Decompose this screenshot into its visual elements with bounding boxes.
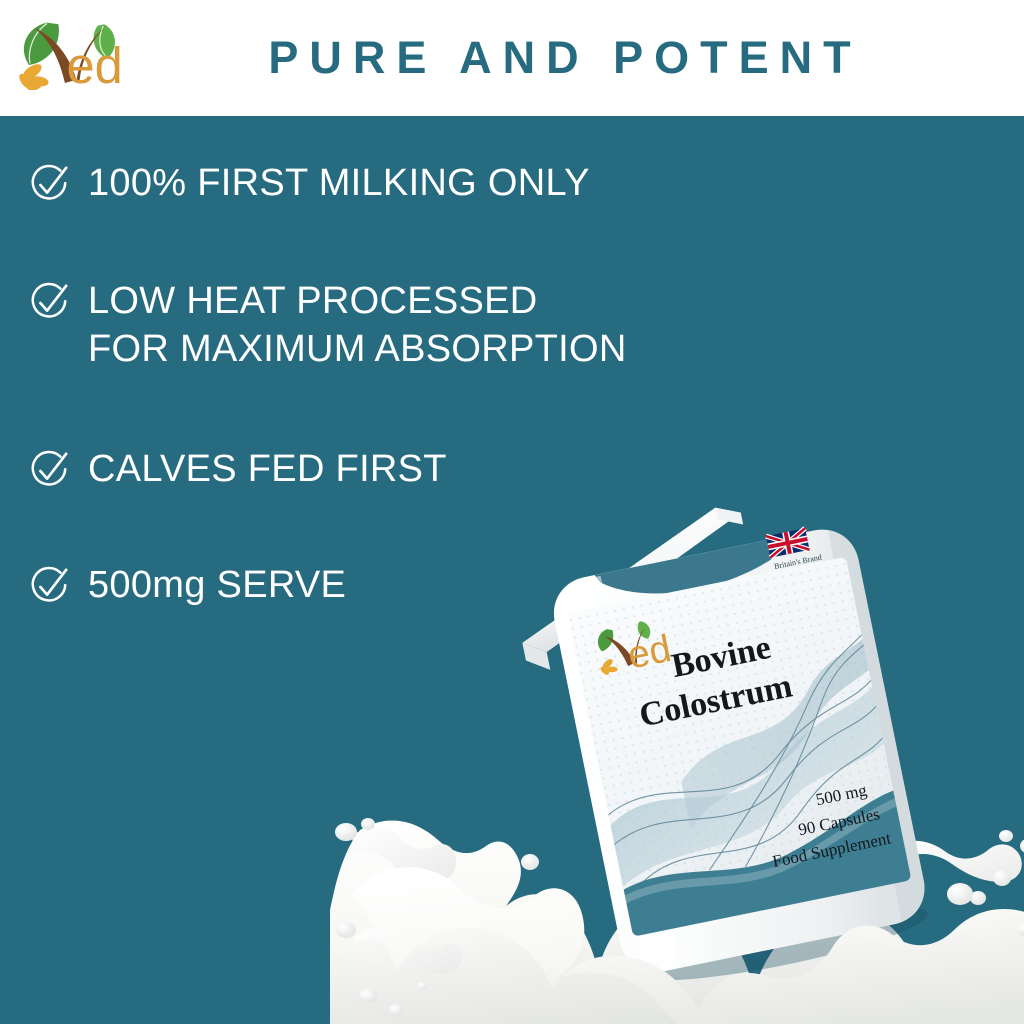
feature-item-calves-fed-first: CALVES FED FIRST [28,446,768,494]
brand-logo[interactable]: ed [16,14,122,90]
feature-list: 100% FIRST MILKING ONLY LOW HEAT PROCESS… [28,160,768,609]
feature-item-serve-size: 500mg SERVE [28,562,768,610]
milk-splash-front [340,798,1024,1024]
feature-label: 100% FIRST MILKING ONLY [88,160,590,208]
feature-label: LOW HEAT PROCESSED FOR MAXIMUM ABSORPTIO… [88,278,627,374]
feature-item-first-milking: 100% FIRST MILKING ONLY [28,160,768,208]
check-circle-icon [28,450,70,492]
logo-wordmark: ed [67,37,122,90]
check-circle-icon [28,566,70,608]
feature-label: 500mg SERVE [88,562,346,610]
flower-icon [17,61,49,90]
check-circle-icon [28,282,70,324]
promo-graphic-root: Britain's Brand [0,0,1024,1024]
check-circle-icon [28,164,70,206]
header-bar: ed PURE AND POTENT [0,0,1024,116]
svg-text:ed: ed [624,627,675,678]
feature-label: CALVES FED FIRST [88,446,447,494]
page-title: PURE AND POTENT [170,0,960,116]
feature-item-low-heat: LOW HEAT PROCESSED FOR MAXIMUM ABSORPTIO… [28,278,768,374]
